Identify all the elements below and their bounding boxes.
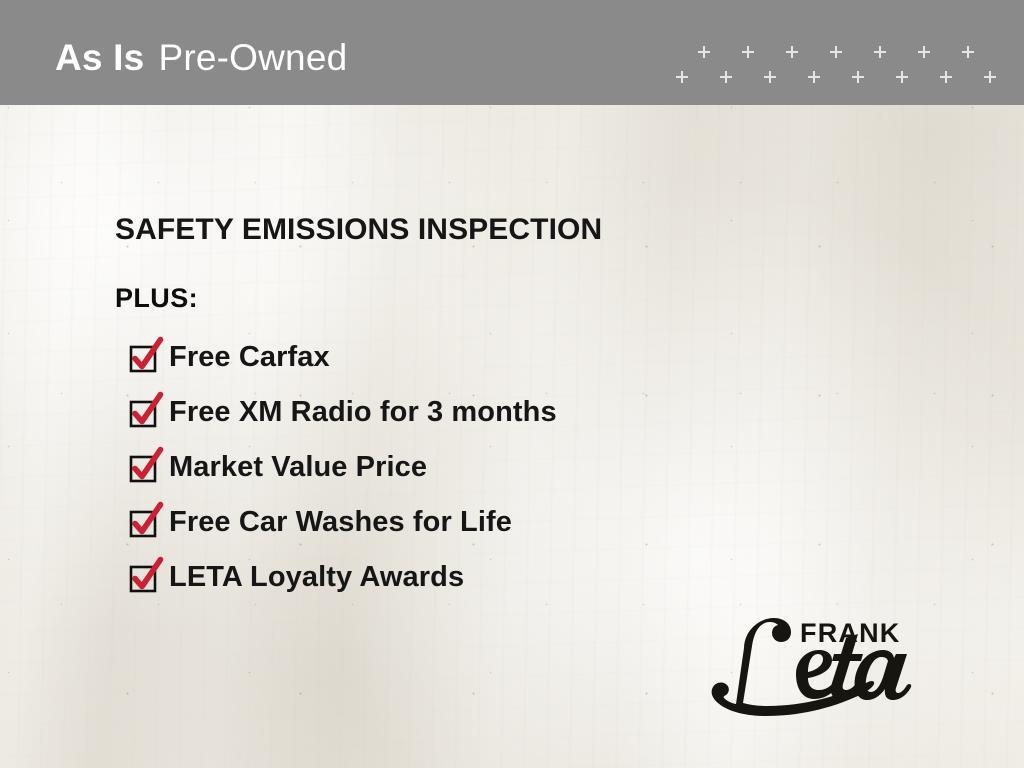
plus-label: PLUS:: [115, 283, 198, 314]
list-item-label: Free Carfax: [169, 338, 330, 376]
plus-decoration: [672, 38, 1016, 90]
brand-logo: FRANK: [700, 608, 915, 720]
checked-checkbox-icon: [131, 346, 155, 370]
page-title: As IsPre-Owned: [55, 36, 347, 80]
plus-icon: [786, 45, 830, 58]
list-item: Market Value Price: [131, 448, 751, 503]
slide-canvas: As IsPre-Owned: [0, 0, 1024, 768]
list-item-label: Free XM Radio for 3 months: [169, 393, 557, 431]
list-item: LETA Loyalty Awards: [131, 558, 751, 613]
header-band: As IsPre-Owned: [0, 0, 1024, 105]
page-title-strong: As Is: [55, 37, 144, 78]
plus-icon: [764, 70, 808, 83]
plus-icon: [742, 45, 786, 58]
plus-icon: [808, 70, 852, 83]
plus-icon: [720, 70, 764, 83]
plus-icon: [984, 70, 1024, 83]
list-item: Free Car Washes for Life: [131, 503, 751, 558]
plus-decoration-row-top: [698, 45, 1024, 59]
list-item-label: LETA Loyalty Awards: [169, 558, 464, 596]
list-item-label: Free Car Washes for Life: [169, 503, 512, 541]
list-item: Free XM Radio for 3 months: [131, 393, 751, 448]
checked-checkbox-icon: [131, 511, 155, 535]
list-item: Free Carfax: [131, 338, 751, 393]
page-title-light: Pre-Owned: [158, 37, 347, 78]
list-item-label: Market Value Price: [169, 448, 427, 486]
plus-icon: [896, 70, 940, 83]
plus-icon: [940, 70, 984, 83]
plus-icon: [676, 70, 720, 83]
checked-checkbox-icon: [131, 566, 155, 590]
plus-decoration-row-bottom: [676, 70, 1020, 84]
brand-name-top: FRANK: [800, 618, 901, 649]
plus-icon: [830, 45, 874, 58]
plus-icon: [918, 45, 962, 58]
benefits-list: Free Carfax Free XM Radio for 3 months M…: [131, 338, 751, 613]
checked-checkbox-icon: [131, 456, 155, 480]
plus-icon: [852, 70, 896, 83]
plus-icon: [874, 45, 918, 58]
plus-icon: [962, 45, 1006, 58]
checked-checkbox-icon: [131, 401, 155, 425]
plus-icon: [698, 45, 742, 58]
headline-text: SAFETY EMISSIONS INSPECTION: [115, 213, 602, 247]
